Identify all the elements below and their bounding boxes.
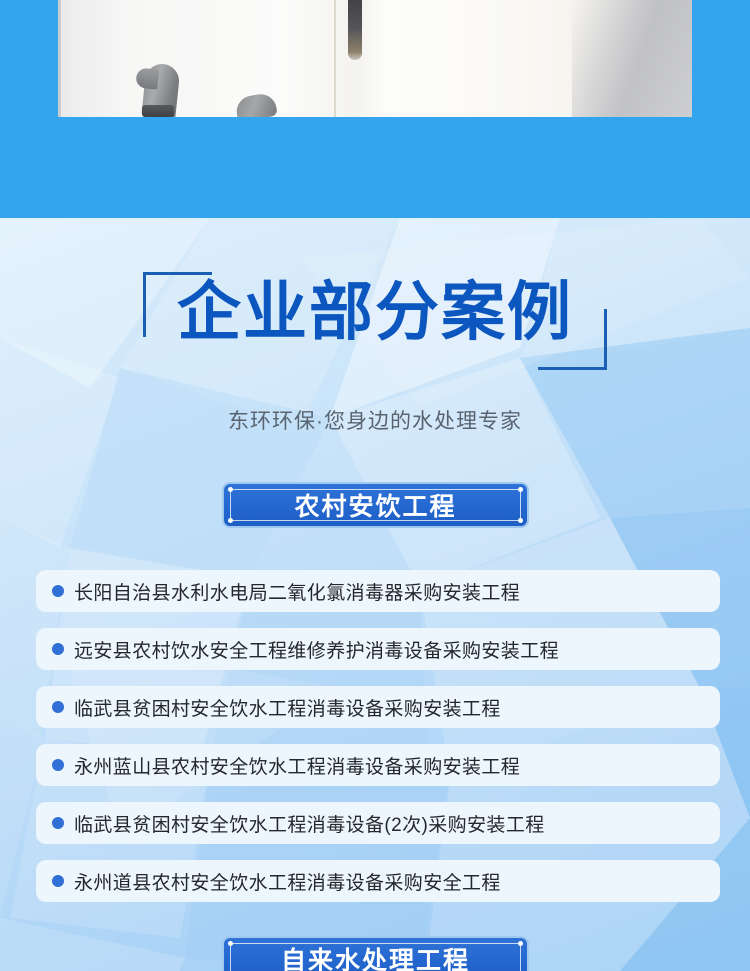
case-title: 临武县贫困村安全饮水工程消毒设备采购安装工程 [74,694,501,721]
section-badge-rural-drinking-water[interactable]: 农村安饮工程 [222,482,529,528]
case-title: 远安县农村饮水安全工程维修养护消毒设备采购安装工程 [74,636,559,663]
section-badge-tap-water-treatment[interactable]: 自来水处理工程 [222,936,529,971]
section-badge-label: 农村安饮工程 [224,484,527,526]
case-list: 长阳自治县水利水电局二氧化氯消毒器采购安装工程 远安县农村饮水安全工程维修养护消… [36,570,720,918]
list-item[interactable]: 临武县贫困村安全饮水工程消毒设备(2次)采购安装工程 [36,802,720,844]
page-title: 企业部分案例 [177,280,573,344]
title-frame: 企业部分案例 [143,262,607,370]
case-title: 永州蓝山县农村安全饮水工程消毒设备采购安装工程 [74,752,520,779]
section-badge-label: 自来水处理工程 [224,938,527,971]
photo-left-edge [58,0,61,117]
bullet-dot-icon [52,701,64,713]
list-item[interactable]: 长阳自治县水利水电局二氧化氯消毒器采购安装工程 [36,570,720,612]
bullet-dot-icon [52,585,64,597]
equipment-photo [58,0,692,117]
case-title: 临武县贫困村安全饮水工程消毒设备(2次)采购安装工程 [74,810,545,837]
bullet-dot-icon [52,817,64,829]
list-item[interactable]: 临武县贫困村安全饮水工程消毒设备采购安装工程 [36,686,720,728]
photo-panel-seam [334,0,336,117]
list-item[interactable]: 远安县农村饮水安全工程维修养护消毒设备采购安装工程 [36,628,720,670]
case-title: 永州道县农村安全饮水工程消毒设备采购安全工程 [74,868,501,895]
photo-dark-slot [348,0,362,60]
bullet-dot-icon [52,759,64,771]
pipe-clamp [142,105,174,117]
case-showcase-page: 企业部分案例 东环环保·您身边的水处理专家 农村安饮工程 长阳自治县水利水电局二… [0,0,750,971]
page-title-block: 企业部分案例 [0,262,750,370]
case-title: 长阳自治县水利水电局二氧化氯消毒器采购安装工程 [74,578,520,605]
bullet-dot-icon [52,643,64,655]
page-subtitle: 东环环保·您身边的水处理专家 [0,405,750,435]
bullet-dot-icon [52,875,64,887]
bracket-top-left-icon [143,272,212,337]
list-item[interactable]: 永州蓝山县农村安全饮水工程消毒设备采购安装工程 [36,744,720,786]
bracket-bottom-right-icon [538,309,607,370]
photo-right-shadow [572,0,692,117]
hero-blue-band [0,0,750,218]
list-item[interactable]: 永州道县农村安全饮水工程消毒设备采购安全工程 [36,860,720,902]
